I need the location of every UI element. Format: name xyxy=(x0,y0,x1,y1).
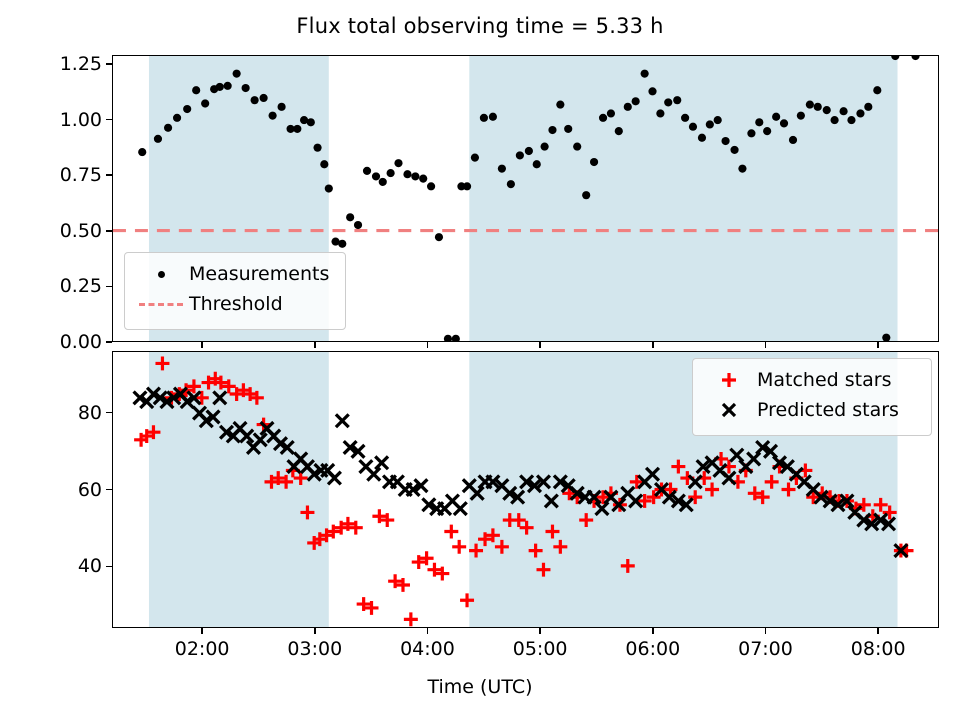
y-tick-label: 1.25 xyxy=(54,53,102,75)
y-tick-label: 60 xyxy=(54,479,102,501)
x-tick-label: 06:00 xyxy=(625,638,680,660)
x-tick-label: 08:00 xyxy=(851,638,906,660)
y-tick-label: 80 xyxy=(54,402,102,424)
figure: Flux total observing time = 5.33 h Match… xyxy=(0,0,960,720)
x-tick-mark xyxy=(427,342,429,348)
y-tick-mark xyxy=(106,566,112,568)
x-tick-mark xyxy=(201,342,203,348)
x-axis-label: Time (UTC) xyxy=(0,676,960,698)
x-tick-mark xyxy=(314,628,316,634)
y-tick-mark xyxy=(106,119,112,121)
y-tick-mark xyxy=(106,63,112,65)
x-tick-mark xyxy=(877,628,879,634)
y-tick-label: 0.50 xyxy=(54,220,102,242)
x-tick-mark xyxy=(539,628,541,634)
y-tick-mark xyxy=(106,230,112,232)
figure-title: Flux total observing time = 5.33 h xyxy=(0,14,960,38)
y-tick-label: 40 xyxy=(54,555,102,577)
y-tick-label: 0.75 xyxy=(54,164,102,186)
y-tick-mark xyxy=(106,286,112,288)
legend-item-threshold[interactable]: Threshold xyxy=(133,289,337,319)
x-tick-label: 03:00 xyxy=(287,638,342,660)
y-tick-label: 1.00 xyxy=(54,109,102,131)
x-tick-mark xyxy=(427,628,429,634)
x-tick-mark xyxy=(314,342,316,348)
legend-label-measurements: Measurements xyxy=(189,263,329,285)
dot-marker-icon xyxy=(133,271,189,278)
y-tick-label: 0.00 xyxy=(54,331,102,353)
legend-label-threshold: Threshold xyxy=(189,293,283,315)
bottom-panel-legend[interactable]: Matched stars Predicted stars xyxy=(692,358,932,436)
x-tick-label: 05:00 xyxy=(513,638,568,660)
x-tick-mark xyxy=(877,342,879,348)
legend-item-measurements[interactable]: Measurements xyxy=(133,259,337,289)
x-tick-mark xyxy=(539,342,541,348)
legend-label-predicted-stars: Predicted stars xyxy=(757,399,899,421)
legend-item-matched-stars[interactable]: Matched stars xyxy=(701,365,923,395)
cross-marker-icon xyxy=(701,399,757,421)
x-tick-mark xyxy=(652,342,654,348)
plus-marker-icon xyxy=(701,369,757,391)
x-tick-label: 04:00 xyxy=(400,638,455,660)
top-panel-legend[interactable]: Measurements Threshold xyxy=(124,252,346,330)
x-tick-mark xyxy=(765,628,767,634)
y-tick-mark xyxy=(106,341,112,343)
x-tick-mark xyxy=(201,628,203,634)
y-tick-label: 0.25 xyxy=(54,275,102,297)
x-tick-mark xyxy=(765,342,767,348)
y-tick-mark xyxy=(106,489,112,491)
x-tick-label: 02:00 xyxy=(175,638,230,660)
y-tick-mark xyxy=(106,412,112,414)
x-tick-mark xyxy=(652,628,654,634)
dashed-line-icon xyxy=(133,303,189,306)
y-tick-mark xyxy=(106,174,112,176)
x-tick-label: 07:00 xyxy=(738,638,793,660)
legend-label-matched-stars: Matched stars xyxy=(757,369,891,391)
legend-item-predicted-stars[interactable]: Predicted stars xyxy=(701,395,923,425)
